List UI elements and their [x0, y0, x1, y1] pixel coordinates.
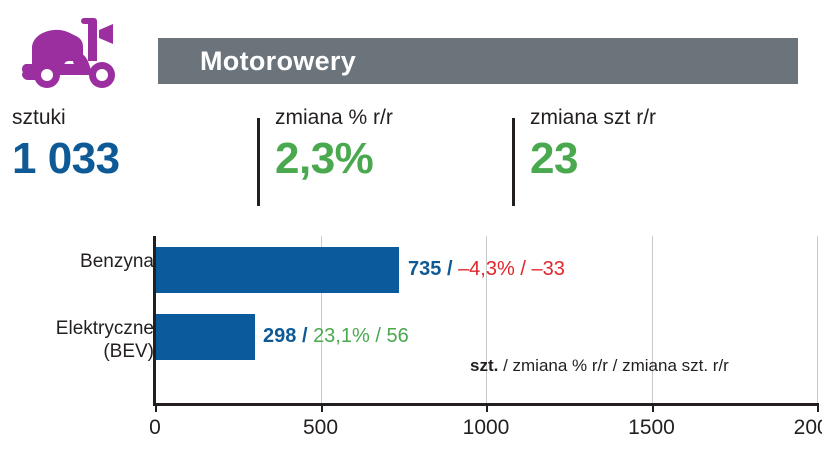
kpi-sztuki: sztuki 1 033: [12, 105, 120, 187]
header: Motorowery: [0, 0, 822, 100]
kpi-zmiana-procent-label: zmiana % r/r: [275, 105, 393, 131]
category-label-benzyna: Benzyna: [80, 250, 154, 273]
chart-legend: szt. / zmiana % r/r / zmiana szt. r/r: [470, 356, 729, 376]
scooter-icon: [14, 12, 136, 92]
annot-separator-3: /: [302, 325, 308, 347]
x-tick-label-2000: 2000: [794, 416, 822, 440]
kpi-zmiana-sztuk-label: zmiana szt r/r: [530, 105, 656, 131]
kpi-zmiana-procent-value: 2,3%: [275, 131, 393, 187]
gridline-2000: [817, 236, 818, 403]
page-title: Motorowery: [200, 46, 356, 77]
gridline-1500: [652, 236, 653, 403]
kpi-zmiana-sztuk-value: 23: [530, 131, 656, 187]
legend-bold-part: szt.: [470, 356, 498, 375]
x-tick-2000: [817, 403, 819, 412]
x-tick-1000: [486, 403, 488, 412]
bar-benzyna[interactable]: [156, 247, 399, 293]
annot-pct-benzyna: –4,3%: [458, 258, 515, 280]
annot-count-elektryczne: 298: [263, 325, 296, 347]
kpi-divider-2: [512, 118, 515, 206]
x-tick-label-1500: 1500: [628, 416, 675, 440]
kpi-divider-1: [257, 118, 260, 206]
kpi-sztuki-label: sztuki: [12, 105, 120, 131]
kpi-sztuki-value: 1 033: [12, 131, 120, 187]
bar-chart: 0500100015002000 Benzyna Elektryczne (BE…: [0, 228, 822, 467]
annot-pct-elektryczne: 23,1%: [313, 325, 370, 347]
x-tick-label-0: 0: [149, 416, 161, 440]
bar-annotation-benzyna: 735 / –4,3% / –33: [408, 257, 565, 281]
kpi-zmiana-procent: zmiana % r/r 2,3%: [275, 105, 393, 187]
annot-count-benzyna: 735: [408, 258, 441, 280]
x-tick-0: [155, 403, 157, 412]
kpi-summary-row: sztuki 1 033 zmiana % r/r 2,3% zmiana sz…: [0, 105, 822, 215]
annot-separator-2: /: [520, 258, 526, 280]
annot-delta-elektryczne: 56: [386, 325, 408, 347]
x-tick-500: [321, 403, 323, 412]
annot-separator-4: /: [375, 325, 381, 347]
x-tick-label-1000: 1000: [463, 416, 510, 440]
kpi-zmiana-sztuk: zmiana szt r/r 23: [530, 105, 656, 187]
legend-rest-part: / zmiana % r/r / zmiana szt. r/r: [498, 356, 729, 375]
annot-separator-1: /: [447, 258, 453, 280]
x-tick-label-500: 500: [303, 416, 338, 440]
bar-elektryczne[interactable]: [156, 314, 255, 360]
bar-annotation-elektryczne: 298 / 23,1% / 56: [263, 324, 409, 348]
annot-delta-benzyna: –33: [531, 258, 564, 280]
title-bar: Motorowery: [158, 38, 798, 84]
category-label-elektryczne: Elektryczne (BEV): [56, 317, 154, 363]
x-tick-1500: [652, 403, 654, 412]
x-axis-line: [153, 403, 817, 406]
